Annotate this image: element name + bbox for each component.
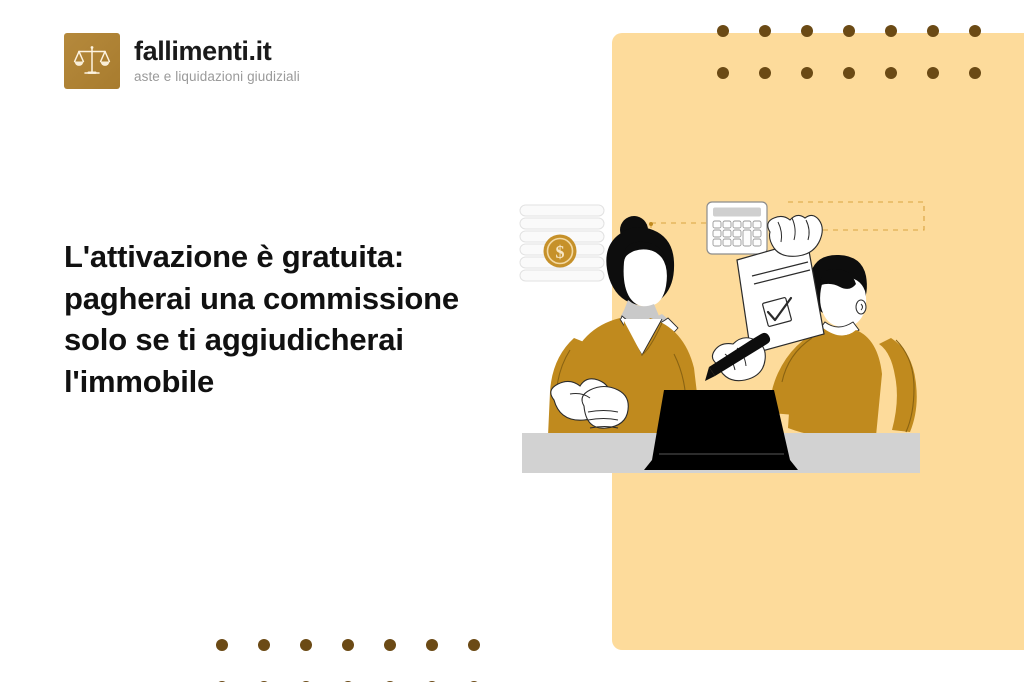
dot-grid-top-right-cell — [927, 52, 969, 94]
dot-grid-bottom-left-cell — [384, 624, 426, 666]
dot-grid-bottom-left-cell — [384, 666, 426, 682]
dot-grid-top-right-cell — [885, 10, 927, 52]
dot-grid-top-right-cell — [801, 0, 843, 10]
decorative-dot — [843, 25, 855, 37]
decorative-dot — [801, 25, 813, 37]
dot-grid-bottom-left-cell — [426, 624, 468, 666]
dot-grid-top-right-cell — [801, 52, 843, 94]
woman-hand-right — [582, 387, 628, 429]
dot-grid-bottom-left-cell — [342, 624, 384, 666]
banner-canvas: fallimenti.it aste e liquidazioni giudiz… — [0, 0, 1024, 682]
dot-grid-top-right-cell — [969, 52, 1011, 94]
dot-grid-bottom-left-cell — [300, 624, 342, 666]
decorative-dot — [300, 639, 312, 651]
dot-grid-bottom-left-cell — [342, 666, 384, 682]
decorative-dot — [216, 639, 228, 651]
connector-dot-left — [649, 222, 653, 226]
decorative-dot — [969, 25, 981, 37]
dot-grid-top-right-cell — [969, 0, 1011, 10]
svg-text:$: $ — [556, 242, 565, 262]
dot-grid-top-right-cell — [969, 10, 1011, 52]
decorative-dot — [717, 25, 729, 37]
dot-grid-top-right-cell — [717, 10, 759, 52]
dot-grid-top-right-cell — [843, 0, 885, 10]
laptop-icon — [644, 390, 798, 470]
man-hand-top — [768, 215, 823, 256]
decorative-dot — [342, 639, 354, 651]
dot-grid-bottom-left-cell — [426, 666, 468, 682]
dot-grid-top-right-cell — [885, 52, 927, 94]
decorative-dot — [885, 67, 897, 79]
dot-grid-top-right-cell — [759, 10, 801, 52]
decorative-dot — [759, 67, 771, 79]
dot-grid-top-right — [717, 0, 1011, 94]
dot-grid-bottom-left-cell — [258, 666, 300, 682]
brand-title: fallimenti.it — [134, 38, 300, 65]
decorative-dot — [468, 639, 480, 651]
brand-logo[interactable]: fallimenti.it aste e liquidazioni giudiz… — [64, 33, 300, 89]
scales-of-justice-icon — [64, 33, 120, 89]
decorative-dot — [426, 639, 438, 651]
decorative-dot — [927, 67, 939, 79]
dot-grid-top-right-cell — [843, 10, 885, 52]
dot-grid-top-right-cell — [717, 0, 759, 10]
decorative-dot — [258, 639, 270, 651]
decorative-dot — [843, 67, 855, 79]
dot-grid-top-right-cell — [759, 52, 801, 94]
decorative-dot — [384, 639, 396, 651]
dot-grid-top-right-cell — [801, 10, 843, 52]
decorative-dot — [969, 67, 981, 79]
dot-grid-bottom-left-cell — [468, 666, 510, 682]
decorative-dot — [801, 67, 813, 79]
dot-grid-top-right-cell — [759, 0, 801, 10]
dot-grid-top-right-cell — [885, 0, 927, 10]
dot-grid-bottom-left — [216, 624, 510, 682]
brand-subtitle: aste e liquidazioni giudiziali — [134, 70, 300, 84]
decorative-dot — [927, 25, 939, 37]
dot-grid-bottom-left-cell — [216, 624, 258, 666]
document-with-checkmark-icon — [737, 240, 824, 354]
dot-grid-bottom-left-cell — [468, 624, 510, 666]
calculator-icon — [707, 202, 767, 254]
dot-grid-bottom-left-cell — [258, 624, 300, 666]
dot-grid-top-right-cell — [717, 52, 759, 94]
decorative-dot — [717, 67, 729, 79]
dot-grid-top-right-cell — [843, 52, 885, 94]
page-title: L'attivazione è gratuita: pagherai una c… — [64, 236, 494, 402]
dot-grid-top-right-cell — [927, 10, 969, 52]
decorative-dot — [885, 25, 897, 37]
decorative-dot — [759, 25, 771, 37]
dollar-coin-icon: $ — [544, 235, 577, 268]
hero-illustration: $ — [512, 188, 932, 488]
dot-grid-top-right-cell — [927, 0, 969, 10]
dot-grid-bottom-left-cell — [300, 666, 342, 682]
dot-grid-bottom-left-cell — [216, 666, 258, 682]
brand-text: fallimenti.it aste e liquidazioni giudiz… — [134, 38, 300, 84]
